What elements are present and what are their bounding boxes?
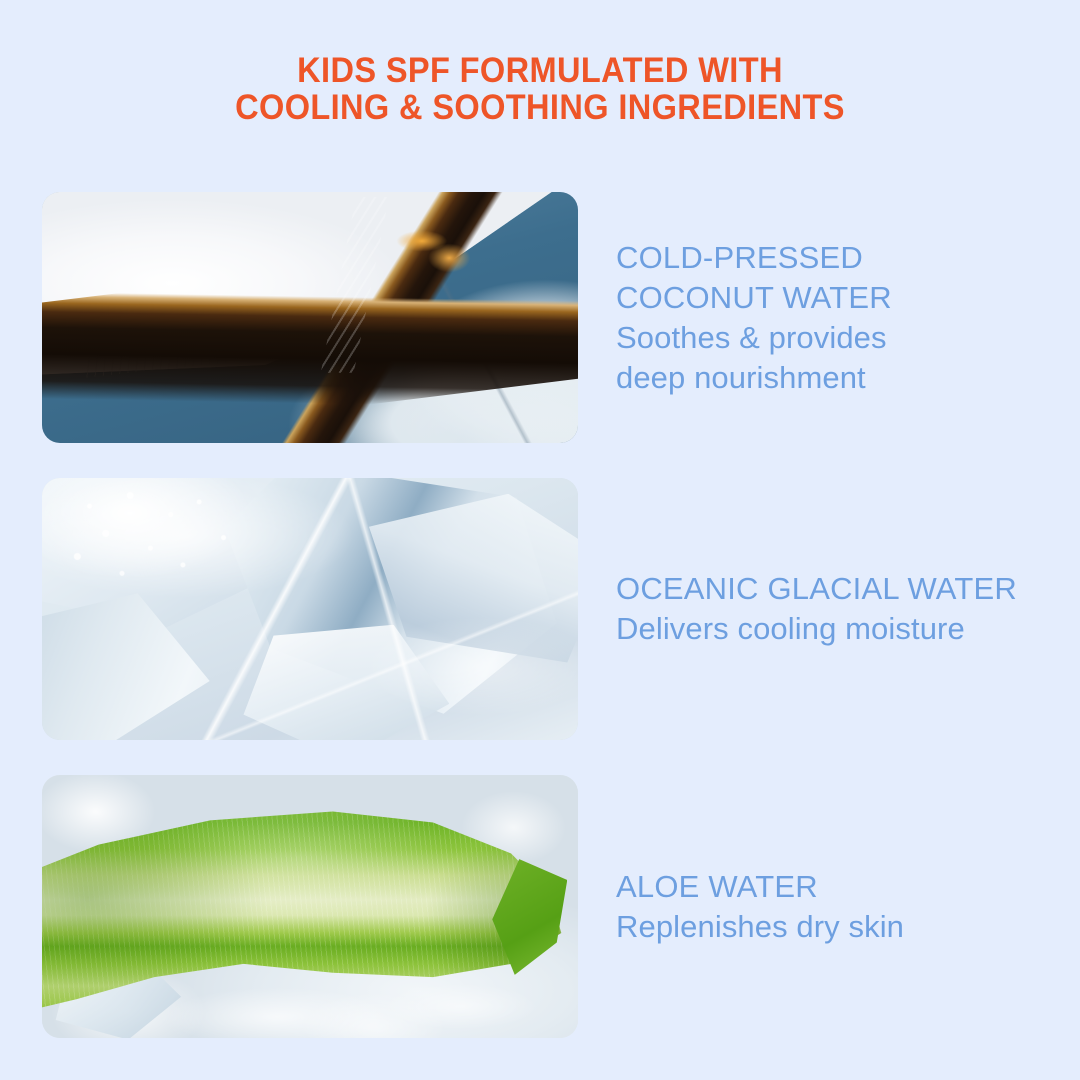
ingredient-row-aloe: ALOE WATER Replenishes dry skin: [42, 775, 1042, 1038]
ingredient-description: Delivers cooling moisture: [616, 609, 1042, 649]
page-title: KIDS SPF FORMULATED WITH COOLING & SOOTH…: [38, 52, 1042, 126]
coconut-pulp-strands: [396, 227, 482, 277]
headline-line-2: COOLING & SOOTHING INGREDIENTS: [38, 89, 1042, 126]
aloe-gel-gloss: [42, 775, 578, 1038]
aloe-vera-leaf-photo: [42, 775, 578, 1038]
coconut-half-photo: [42, 192, 578, 443]
ice-cubes-photo: [42, 478, 578, 740]
ice-sheen: [42, 478, 578, 740]
ingredient-name: OCEANIC GLACIAL WATER: [616, 569, 1042, 609]
ingredient-description: Replenishes dry skin: [616, 907, 1042, 947]
ingredient-info-glacial-water: OCEANIC GLACIAL WATER Delivers cooling m…: [616, 569, 1042, 649]
ingredient-row-coconut: COLD-PRESSED COCONUT WATER Soothes & pro…: [42, 192, 1042, 443]
ingredient-info-coconut: COLD-PRESSED COCONUT WATER Soothes & pro…: [616, 238, 1042, 398]
ingredient-description: Soothes & provides deep nourishment: [616, 318, 1042, 398]
ingredient-name: COLD-PRESSED COCONUT WATER: [616, 238, 1042, 318]
ingredient-info-aloe: ALOE WATER Replenishes dry skin: [616, 867, 1042, 947]
ingredient-row-glacial-water: OCEANIC GLACIAL WATER Delivers cooling m…: [42, 478, 1042, 740]
headline-line-1: KIDS SPF FORMULATED WITH: [38, 52, 1042, 89]
ingredient-name: ALOE WATER: [616, 867, 1042, 907]
